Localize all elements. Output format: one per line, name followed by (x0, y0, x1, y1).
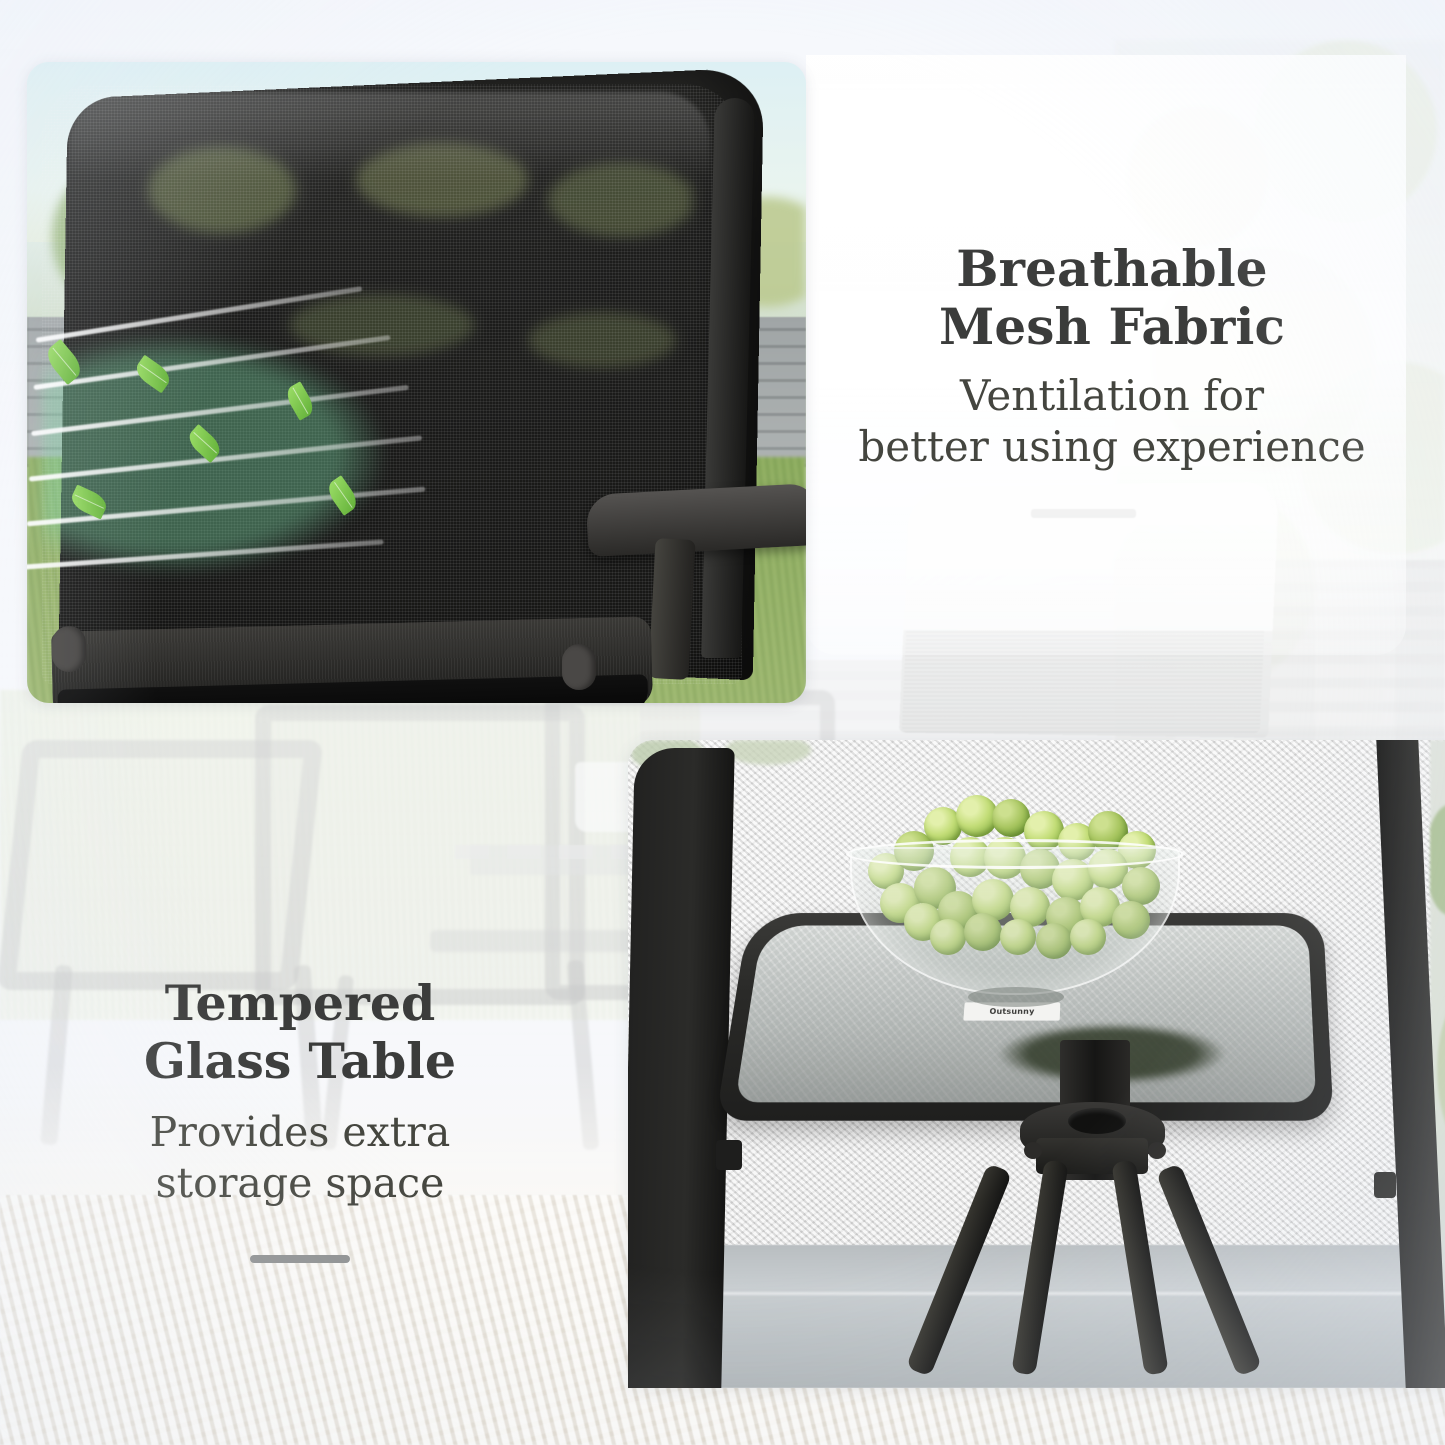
feature-subtext-line-1: Ventilation for (812, 370, 1412, 421)
table-bolt (1024, 1142, 1042, 1159)
feature-subtext-line-2: storage space (35, 1158, 565, 1209)
feature-subtext-line-1: Provides extra (35, 1107, 565, 1158)
brand-label-text: Outsunny (989, 1007, 1034, 1016)
chair-knob (52, 626, 86, 672)
feature-tempered-glass-table: Tempered Glass Table Provides extra stor… (35, 975, 565, 1263)
feature-heading-line-1: Breathable (812, 240, 1412, 298)
photo-chair-back-left (628, 748, 735, 1388)
chair-top-roll-highlight (70, 92, 710, 178)
airflow-glow (42, 294, 512, 624)
chair-armrest (586, 483, 806, 557)
glass-bowl-rim (846, 839, 1184, 869)
chair-arm-post (648, 538, 695, 680)
chair-knob (562, 644, 596, 690)
marketing-image-canvas: Breathable Mesh Fabric Ventilation for b… (0, 0, 1445, 1445)
feature-subtext: Ventilation for better using experience (812, 370, 1412, 472)
grape-bowl (850, 795, 1180, 995)
feature-subtext: Provides extra storage space (35, 1107, 565, 1210)
glass-bowl (850, 847, 1180, 995)
table-bolt (1148, 1142, 1166, 1159)
glass-bowl-foot (968, 987, 1064, 1007)
umbrella-hole (1068, 1108, 1126, 1134)
feature-heading-line-2: Glass Table (35, 1033, 565, 1091)
feature-heading: Tempered Glass Table (35, 975, 565, 1091)
feature-subtext-line-2: better using experience (812, 421, 1412, 472)
photo-chair-left-notch (716, 1140, 742, 1170)
feature-heading-line-2: Mesh Fabric (812, 298, 1412, 356)
feature-breathable-mesh-fabric: Breathable Mesh Fabric Ventilation for b… (812, 240, 1412, 472)
photo-breathable-mesh-chair (27, 62, 806, 703)
feature-heading-line-1: Tempered (35, 975, 565, 1033)
mesh-chair-back (42, 84, 742, 684)
feature-heading: Breathable Mesh Fabric (812, 240, 1412, 356)
photo-chair-right-notch (1374, 1172, 1396, 1198)
photo-tempered-glass-table: Outsunny (628, 740, 1445, 1388)
section-divider (250, 1255, 350, 1263)
